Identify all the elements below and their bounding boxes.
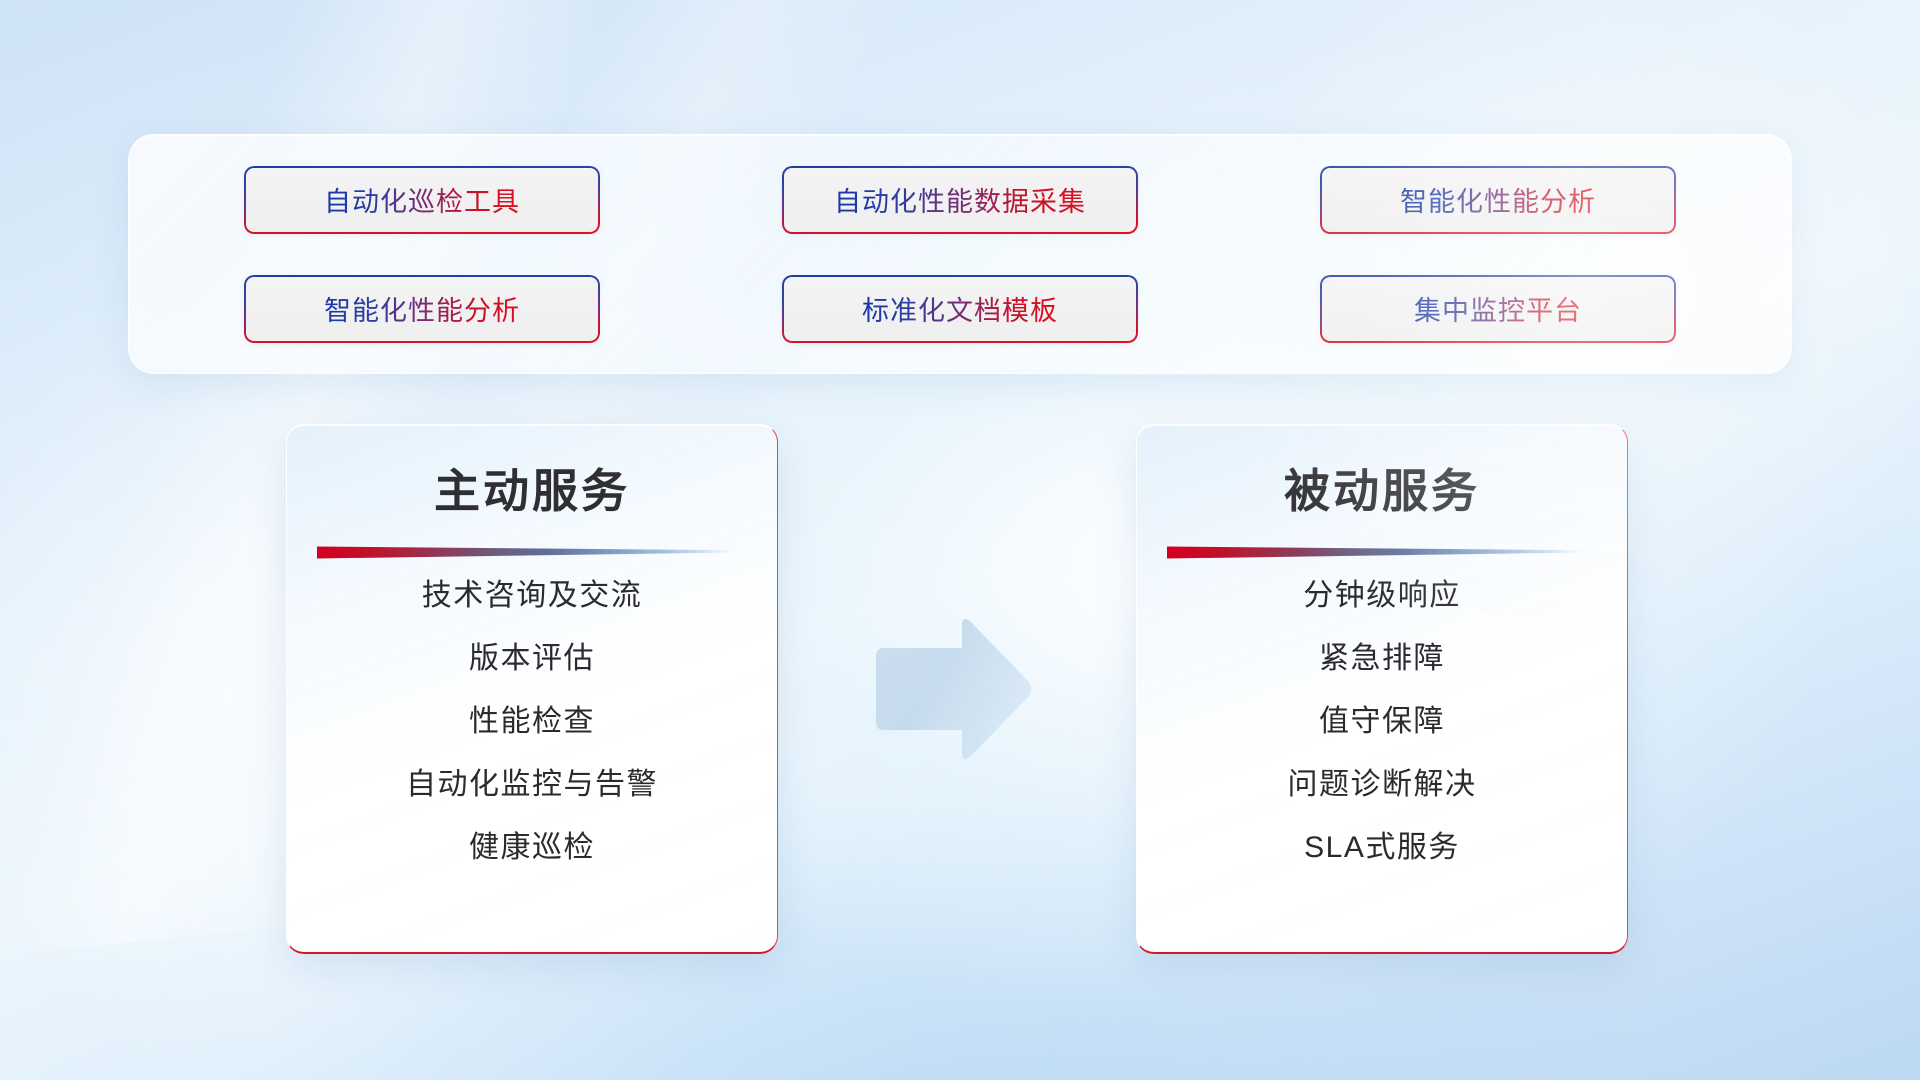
capability-chip-label: 标准化文档模板 xyxy=(862,289,1058,328)
service-item: 健康巡检 xyxy=(469,831,595,864)
service-item: 版本评估 xyxy=(469,642,595,675)
service-item: 值守保障 xyxy=(1319,705,1445,738)
service-card-reactive: 被动服务 分钟级响应 紧急排障 值守保障 问题诊断解决 SLA式服务 xyxy=(1136,424,1628,954)
capability-chip-label: 智能化性能分析 xyxy=(324,289,520,328)
service-item: 紧急排障 xyxy=(1319,642,1445,675)
capability-chip[interactable]: 自动化性能数据采集 xyxy=(782,166,1138,234)
service-item: 问题诊断解决 xyxy=(1288,768,1477,801)
service-item: 分钟级响应 xyxy=(1303,579,1461,612)
service-item: 自动化监控与告警 xyxy=(406,768,658,801)
capability-chip-label: 自动化性能数据采集 xyxy=(834,180,1086,219)
capability-chip[interactable]: 自动化巡检工具 xyxy=(244,166,600,234)
service-item: 性能检查 xyxy=(469,705,595,738)
capability-chip[interactable]: 集中监控平台 xyxy=(1320,275,1676,343)
service-item: SLA式服务 xyxy=(1304,831,1460,864)
slide-canvas: 自动化巡检工具 自动化性能数据采集 智能化性能分析 智能化性能分析 标准化文档模… xyxy=(0,0,1920,1080)
capability-chip[interactable]: 智能化性能分析 xyxy=(1320,166,1676,234)
card-divider xyxy=(317,545,747,559)
service-card-title: 主动服务 xyxy=(434,463,630,521)
capability-chip-label: 智能化性能分析 xyxy=(1400,180,1596,219)
capability-chip-label: 自动化巡检工具 xyxy=(324,180,520,219)
service-card-title: 被动服务 xyxy=(1284,463,1480,521)
card-divider xyxy=(1167,545,1597,559)
arrow-right-icon xyxy=(866,614,1036,764)
capability-chip-label: 集中监控平台 xyxy=(1414,289,1582,328)
service-item-list: 分钟级响应 紧急排障 值守保障 问题诊断解决 SLA式服务 xyxy=(1157,565,1607,864)
capability-chips-panel: 自动化巡检工具 自动化性能数据采集 智能化性能分析 智能化性能分析 标准化文档模… xyxy=(128,134,1792,374)
capability-chip[interactable]: 智能化性能分析 xyxy=(244,275,600,343)
capability-chip[interactable]: 标准化文档模板 xyxy=(782,275,1138,343)
service-card-proactive: 主动服务 技术咨询及交流 版本评估 性能检查 自动化监控与告警 健康巡检 xyxy=(286,424,778,954)
service-item-list: 技术咨询及交流 版本评估 性能检查 自动化监控与告警 健康巡检 xyxy=(307,565,757,864)
service-item: 技术咨询及交流 xyxy=(422,579,643,612)
